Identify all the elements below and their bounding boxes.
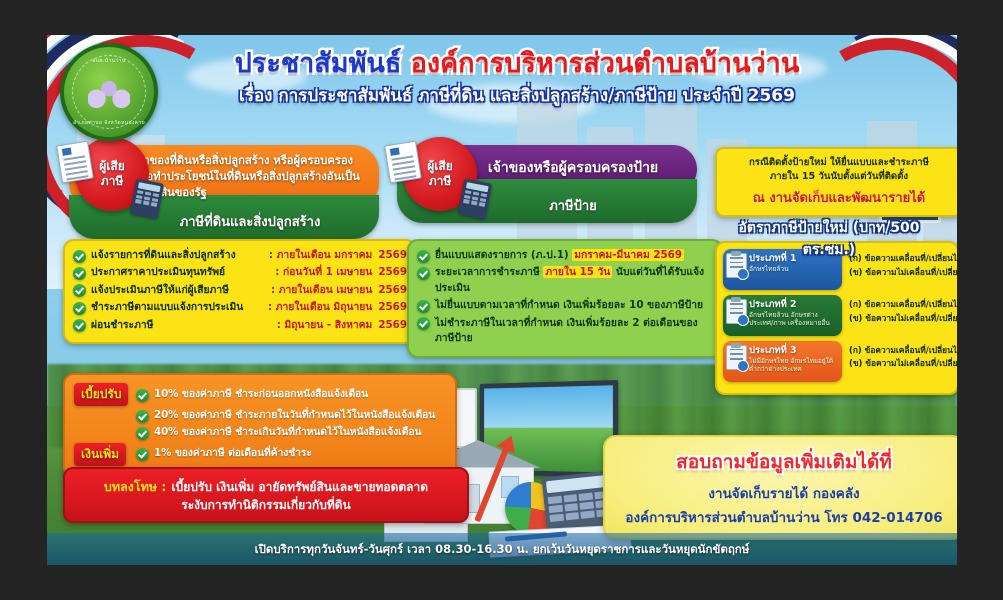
check-icon <box>136 448 149 461</box>
sign-tax-rules-box: ยื่นแบบแสดงรายการ (ภ.ป.1) มกราคม-มีนาคม … <box>407 239 723 358</box>
land-tax-row-label: แจ้งประเมินภาษีให้แก่ผู้เสียภาษี <box>91 283 265 298</box>
check-icon <box>417 317 430 330</box>
rate-line-label: (ก) ข้อความเคลื่อนที่/เปลี่ยนได้ <box>849 344 957 358</box>
surcharge-tag-cell: เงินเพิ่ม <box>74 443 136 466</box>
land-tax-row: ผ่อนชำระภาษี: มิถุนายน - สิงหาคม2569 <box>73 318 407 333</box>
surcharge-text: 1% ของค่าภาษี ต่อเดือนที่ค้างชำระ <box>154 446 446 461</box>
rate-category-subtitle: อักษรไทยล้วน อักษรต่างประเทศ/ภาพ เครื่อง… <box>749 311 837 328</box>
land-tax-row: ประกาศราคาประเมินทุนทรัพย์: ก่อนวันที่ 1… <box>73 265 407 280</box>
land-tax-row-deadline: : ภายในเดือน มิถุนายน <box>268 300 372 315</box>
land-tax-row: ชำระภาษีตามแบบแจ้งการประเมิน: ภายในเดือน… <box>73 300 407 315</box>
rate-category-badge: ประเภทที่ 3ไม่มีอักษรไทย อักษรไทยอยู่ใต้… <box>723 341 842 382</box>
taxpayer-line2: ภาษี <box>101 174 124 189</box>
sign-rate-table: ประเภทที่ 1อักษรไทยล้วน(ก) ข้อความเคลื่อ… <box>715 241 957 395</box>
page-subtitle: เรื่อง การประชาสัมพันธ์ ภาษีที่ดิน และสิ… <box>157 82 877 109</box>
rate-category-title: ประเภทที่ 2 <box>749 299 837 311</box>
land-tax-row-year: 2569 <box>378 283 407 298</box>
sign-taxpayer-circle: ผู้เสีย ภาษี <box>403 137 477 211</box>
fines-box: เบี้ยปรับ10% ของค่าภาษี ชำระก่อนออกหนังส… <box>63 373 457 478</box>
title-part-red: องค์การบริหารส่วนตำบลบ้านว่าน <box>411 48 800 79</box>
rate-line-label: (ก) ข้อความเคลื่อนที่/เปลี่ยนได้ <box>849 298 957 312</box>
land-tax-row-label: ประกาศราคาประเมินทุนทรัพย์ <box>91 265 269 280</box>
notice-line-1: กรณีติดตั้งป้ายใหม่ ให้ยื่นแบบและชำระภาษ… <box>725 156 953 170</box>
check-icon <box>136 410 149 423</box>
sign-tax-row-text: ไม่ยื่นแบบตามเวลาที่กำหนด เงินเพิ่มร้อยล… <box>435 298 713 313</box>
fine-row: เบี้ยปรับ10% ของค่าภาษี ชำระก่อนออกหนังส… <box>74 383 446 406</box>
surcharge-tag: เงินเพิ่ม <box>74 443 126 466</box>
sign-tax-row-highlight: ภายใน 15 วัน <box>543 266 612 278</box>
penalty-line-1: เบี้ยปรับ เงินเพิ่ม อายัดทรัพย์สินและขาย… <box>172 480 429 494</box>
clipboard-icon <box>726 299 747 324</box>
land-tax-row-deadline: : ภายในเดือน เมษายน <box>271 283 372 298</box>
penalty-line-2: ระงับการทำนิติกรรมเกี่ยวกับที่ดิน <box>77 497 455 514</box>
rate-description-cell: (ก) ข้อความเคลื่อนที่/เปลี่ยนได้(ข) ข้อค… <box>842 295 957 336</box>
land-tax-row-deadline: : มิถุนายน - สิงหาคม <box>277 318 373 333</box>
rate-table-row: ประเภทที่ 2อักษรไทยล้วน อักษรต่างประเทศ/… <box>723 295 951 336</box>
rate-category-badge: ประเภทที่ 2อักษรไทยล้วน อักษรต่างประเทศ/… <box>723 295 842 336</box>
rate-line-label: (ข) ข้อความไม่เคลื่อนที่/เปลี่ยนไม่ได้ <box>849 357 957 371</box>
poster-canvas: อบต.บ้านว่าน อำเภอท่าบ่อ จังหวัดหนองคาย … <box>47 35 957 565</box>
check-icon <box>73 250 86 263</box>
clipboard-icon <box>726 345 747 370</box>
surcharge-row: เงินเพิ่ม1% ของค่าภาษี ต่อเดือนที่ค้างชำ… <box>74 443 446 466</box>
land-tax-row: แจ้งรายการที่ดินและสิ่งปลูกสร้าง: ภายในเ… <box>73 248 407 263</box>
check-icon <box>73 302 86 315</box>
sign-rate-rows: ประเภทที่ 1อักษรไทยล้วน(ก) ข้อความเคลื่อ… <box>723 249 951 382</box>
fine-text: 10% ของค่าภาษี ชำระก่อนออกหนังสือแจ้งเตื… <box>154 387 446 402</box>
check-icon <box>73 284 86 297</box>
sign-tax-row: ยื่นแบบแสดงรายการ (ภ.ป.1) มกราคม-มีนาคม … <box>417 248 713 263</box>
fine-row: 40% ของค่าภาษี ชำระเกินวันที่กำหนดไว้ในห… <box>74 425 446 440</box>
document-icon <box>56 141 94 184</box>
land-tax-schedule-list: แจ้งรายการที่ดินและสิ่งปลูกสร้าง: ภายในเ… <box>73 248 407 333</box>
title-part-blue: ประชาสัมพันธ์ <box>235 48 402 79</box>
land-tax-row: แจ้งประเมินภาษีให้แก่ผู้เสียภาษี: ภายในเ… <box>73 283 407 298</box>
land-taxpayer-circle: ผู้เสีย ภาษี <box>75 137 149 211</box>
sign-tax-row-text: ไม่ชำระภาษีในเวลาที่กำหนด เงินเพิ่มร้อยล… <box>435 316 713 347</box>
sign-tax-row-text: ระยะเวลาการชำระภาษี ภายใน 15 วัน นับแต่ว… <box>435 265 713 296</box>
fine-tag-cell: เบี้ยปรับ <box>74 383 136 406</box>
taxpayer-line2: ภาษี <box>429 174 452 189</box>
land-tax-badge-card: เจ้าของที่ดินหรือสิ่งปลูกสร้าง หรือผู้คร… <box>69 145 379 239</box>
sign-tax-row-highlight: มกราคม-มีนาคม 2569 <box>572 249 684 261</box>
check-icon <box>417 267 430 280</box>
document-icon <box>384 141 422 184</box>
rate-line-label: (ข) ข้อความไม่เคลื่อนที่/เปลี่ยนไม่ได้ <box>849 266 957 280</box>
taxpayer-line1: ผู้เสีย <box>427 159 453 174</box>
rate-category-subtitle: อักษรไทยล้วน <box>749 265 837 274</box>
new-sign-notice-box: กรณีติดตั้งป้ายใหม่ ให้ยื่นแบบและชำระภาษ… <box>715 147 957 217</box>
sign-tax-rules-list: ยื่นแบบแสดงรายการ (ภ.ป.1) มกราคม-มีนาคม … <box>417 248 713 347</box>
land-tax-row-deadline: : ภายในเดือน มกราคม <box>269 248 372 263</box>
fine-tag: เบี้ยปรับ <box>74 383 128 406</box>
sign-tax-row: ไม่ยื่นแบบตามเวลาที่กำหนด เงินเพิ่มร้อยล… <box>417 298 713 313</box>
fine-text: 20% ของค่าภาษี ชำระภายในวันที่กำหนดไว้ใน… <box>154 408 446 423</box>
emblem-bottom-text: อำเภอท่าบ่อ จังหวัดหนองคาย <box>64 119 154 127</box>
contact-line-1: งานจัดเก็บรายได้ กองคลัง <box>615 482 953 504</box>
check-icon <box>136 389 149 402</box>
page-title: ประชาสัมพันธ์ องค์การบริหารส่วนตำบลบ้านว… <box>157 49 877 79</box>
check-icon <box>73 267 86 280</box>
contact-title: สอบถามข้อมูลเพิ่มเติมได้ที่ <box>615 447 953 477</box>
rate-line-label: (ข) ข้อความไม่เคลื่อนที่/เปลี่ยนไม่ได้ <box>849 312 957 326</box>
land-tax-row-label: ผ่อนชำระภาษี <box>91 318 271 333</box>
rate-category-title: ประเภทที่ 3 <box>749 345 837 357</box>
rate-table-header: อัตราภาษีป้ายใหม่ (บาท/500 ตร.ซม.) <box>715 217 943 261</box>
check-icon <box>73 319 86 332</box>
service-hours-bar: เปิดบริการทุกวันจันทร์-วันศุกร์ เวลา 08.… <box>47 533 957 565</box>
fine-text: 40% ของค่าภาษี ชำระเกินวันที่กำหนดไว้ในห… <box>154 425 446 440</box>
sign-tax-row: ระยะเวลาการชำระภาษี ภายใน 15 วัน นับแต่ว… <box>417 265 713 296</box>
penalty-row-1: บทลงโทษ : เบี้ยปรับ เงินเพิ่ม อายัดทรัพย… <box>77 476 455 497</box>
land-tax-row-label: แจ้งรายการที่ดินและสิ่งปลูกสร้าง <box>91 248 263 263</box>
land-tax-row-label: ชำระภาษีตามแบบแจ้งการประเมิน <box>91 300 262 315</box>
notice-line-3: ณ งานจัดเก็บและพัฒนารายได้ <box>725 187 953 208</box>
rate-category-subtitle: ไม่มีอักษรไทย อักษรไทยอยู่ใต้ ต่ำกว่าต่า… <box>749 357 837 374</box>
land-tax-row-year: 2569 <box>378 248 407 263</box>
check-icon <box>136 427 149 440</box>
service-hours-text: เปิดบริการทุกวันจันทร์-วันศุกร์ เวลา 08.… <box>255 542 750 556</box>
land-tax-row-year: 2569 <box>378 265 407 280</box>
rate-description-cell: (ก) ข้อความเคลื่อนที่/เปลี่ยนได้(ข) ข้อค… <box>842 341 957 382</box>
land-tax-row-year: 2569 <box>378 318 407 333</box>
sign-tax-row-text: ยื่นแบบแสดงรายการ (ภ.ป.1) มกราคม-มีนาคม … <box>435 248 713 263</box>
notice-line-2: ภายใน 15 วันนับตั้งแต่วันที่ติดตั้ง <box>725 170 953 184</box>
penalty-banner: บทลงโทษ : เบี้ยปรับ เงินเพิ่ม อายัดทรัพย… <box>63 467 469 523</box>
contact-box: สอบถามข้อมูลเพิ่มเติมได้ที่ งานจัดเก็บรา… <box>603 435 957 540</box>
check-icon <box>417 300 430 313</box>
sign-tax-row: ไม่ชำระภาษีในเวลาที่กำหนด เงินเพิ่มร้อยล… <box>417 316 713 347</box>
taxpayer-line1: ผู้เสีย <box>99 159 125 174</box>
emblem-motif-icon <box>88 75 130 109</box>
header-block: ประชาสัมพันธ์ องค์การบริหารส่วนตำบลบ้านว… <box>157 49 877 109</box>
land-tax-schedule-box: แจ้งรายการที่ดินและสิ่งปลูกสร้าง: ภายในเ… <box>63 239 417 344</box>
check-icon <box>417 250 430 263</box>
land-tax-row-year: 2569 <box>378 300 407 315</box>
sign-tax-badge-card: เจ้าของหรือผู้ครอบครองป้าย ภาษีป้าย ผู้เ… <box>397 145 697 223</box>
municipality-emblem-logo: อบต.บ้านว่าน อำเภอท่าบ่อ จังหวัดหนองคาย <box>60 43 158 141</box>
fine-row: 20% ของค่าภาษี ชำระภายในวันที่กำหนดไว้ใน… <box>74 408 446 423</box>
rate-table-row: ประเภทที่ 3ไม่มีอักษรไทย อักษรไทยอยู่ใต้… <box>723 341 951 382</box>
land-tax-row-deadline: : ก่อนวันที่ 1 เมษายน <box>275 265 372 280</box>
emblem-top-text: อบต.บ้านว่าน <box>64 57 154 65</box>
fines-list: เบี้ยปรับ10% ของค่าภาษี ชำระก่อนออกหนังส… <box>74 383 446 466</box>
contact-line-2: องค์การบริหารส่วนตำบลบ้านว่าน โทร 042-01… <box>615 506 953 528</box>
penalty-label: บทลงโทษ : <box>104 479 166 494</box>
